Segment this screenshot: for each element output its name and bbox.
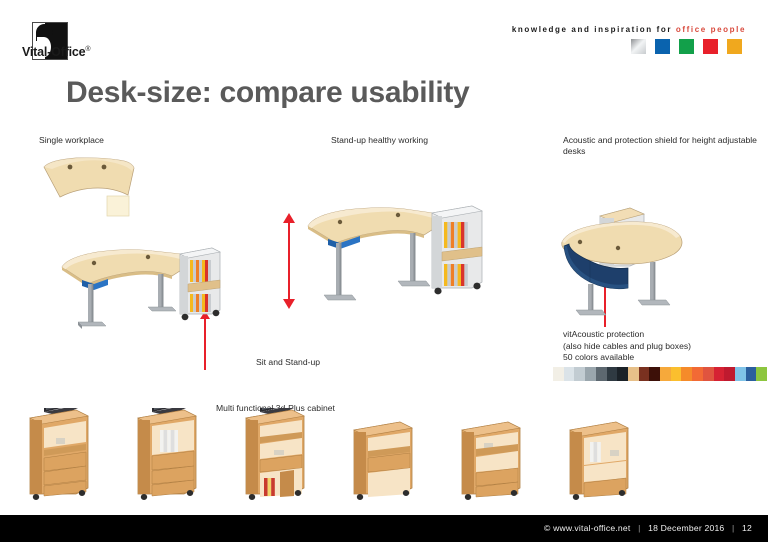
acoustic-color-strip — [553, 367, 767, 381]
caption-single-workplace: Single workplace — [39, 135, 104, 146]
brand-swatch-green — [679, 39, 694, 54]
logo-registered-mark: ® — [85, 46, 90, 53]
stand-up-height-desk-with-3d-plus-cabinet — [300, 198, 500, 318]
acoustic-color-swatch-12 — [671, 367, 682, 381]
brand-swatch-row — [631, 39, 742, 54]
acoustic-color-swatch-17 — [724, 367, 735, 381]
footer-website[interactable]: www.vital-office.net — [553, 523, 630, 533]
logo-wordmark: Vital-Office® — [22, 45, 90, 59]
tagline-accent: office people — [676, 25, 746, 34]
acoustic-color-swatch-16 — [714, 367, 725, 381]
brand-swatch-orange — [727, 39, 742, 54]
acoustic-color-swatch-3 — [574, 367, 585, 381]
footer-page-number: 12 — [742, 523, 752, 533]
brand-tagline: knowledge and inspiration for office peo… — [512, 25, 746, 34]
brand-swatch-blue — [655, 39, 670, 54]
footer-separator-1: | — [633, 523, 645, 533]
logo-wordmark-text: Vital-Office — [22, 45, 85, 59]
acoustic-note-line-1: vitAcoustic protection — [563, 329, 691, 341]
acoustic-color-swatch-15 — [703, 367, 714, 381]
caption-acoustic-shield: Acoustic and protection shield for heigh… — [563, 135, 759, 157]
acoustic-color-swatch-5 — [596, 367, 607, 381]
slide-canvas: Vital-Office® knowledge and inspiration … — [0, 0, 768, 542]
cabinet-variant-6 — [570, 422, 628, 500]
acoustic-color-swatch-11 — [660, 367, 671, 381]
brand-swatch-red — [703, 39, 718, 54]
tagline-main: knowledge and inspiration for — [512, 25, 676, 34]
acoustic-color-swatch-14 — [692, 367, 703, 381]
footer-copyright-symbol: © — [544, 523, 551, 533]
sit-height-desk-with-3d-plus-cabinet — [52, 232, 242, 342]
acoustic-color-swatch-6 — [607, 367, 618, 381]
height-adjustment-arrow — [288, 222, 290, 300]
cabinet-variant-3 — [246, 408, 304, 500]
cabinet-variant-5 — [462, 422, 520, 500]
acoustic-color-swatch-18 — [735, 367, 746, 381]
footer-text: © www.vital-office.net | 18 December 201… — [544, 523, 752, 533]
multi-functional-3d-plus-cabinet-variants — [8, 408, 668, 500]
acoustic-color-swatch-10 — [649, 367, 660, 381]
desk-top-view-single-workplace — [36, 155, 151, 220]
acoustic-color-swatch-9 — [639, 367, 650, 381]
acoustic-color-swatch-2 — [564, 367, 575, 381]
acoustic-color-swatch-4 — [585, 367, 596, 381]
desk-with-vitacoustic-shield — [556, 192, 731, 327]
acoustic-color-swatch-19 — [746, 367, 757, 381]
acoustic-color-swatch-20 — [756, 367, 767, 381]
acoustic-color-swatch-13 — [681, 367, 692, 381]
acoustic-note-line-3: 50 colors available — [563, 352, 691, 364]
brand-logo[interactable]: Vital-Office® — [22, 22, 122, 62]
footer-date: 18 December 2016 — [648, 523, 724, 533]
acoustic-color-swatch-8 — [628, 367, 639, 381]
cabinet-variant-1 — [30, 408, 88, 500]
acoustic-color-swatch-7 — [617, 367, 628, 381]
footer-bar: © www.vital-office.net | 18 December 201… — [0, 515, 768, 542]
caption-stand-up-working: Stand-up healthy working — [331, 135, 428, 146]
acoustic-note-block: vitAcoustic protection (also hide cables… — [563, 329, 691, 364]
page-title: Desk-size: compare usability — [66, 76, 469, 110]
brand-swatch-silver — [631, 39, 646, 54]
footer-separator-2: | — [727, 523, 739, 533]
caption-sit-and-stand-up: Sit and Stand-up — [256, 357, 320, 368]
cabinet-variant-4 — [354, 422, 412, 500]
acoustic-note-line-2: (also hide cables and plug boxes) — [563, 341, 691, 353]
acoustic-color-swatch-1 — [553, 367, 564, 381]
cabinet-variant-2 — [138, 408, 196, 500]
